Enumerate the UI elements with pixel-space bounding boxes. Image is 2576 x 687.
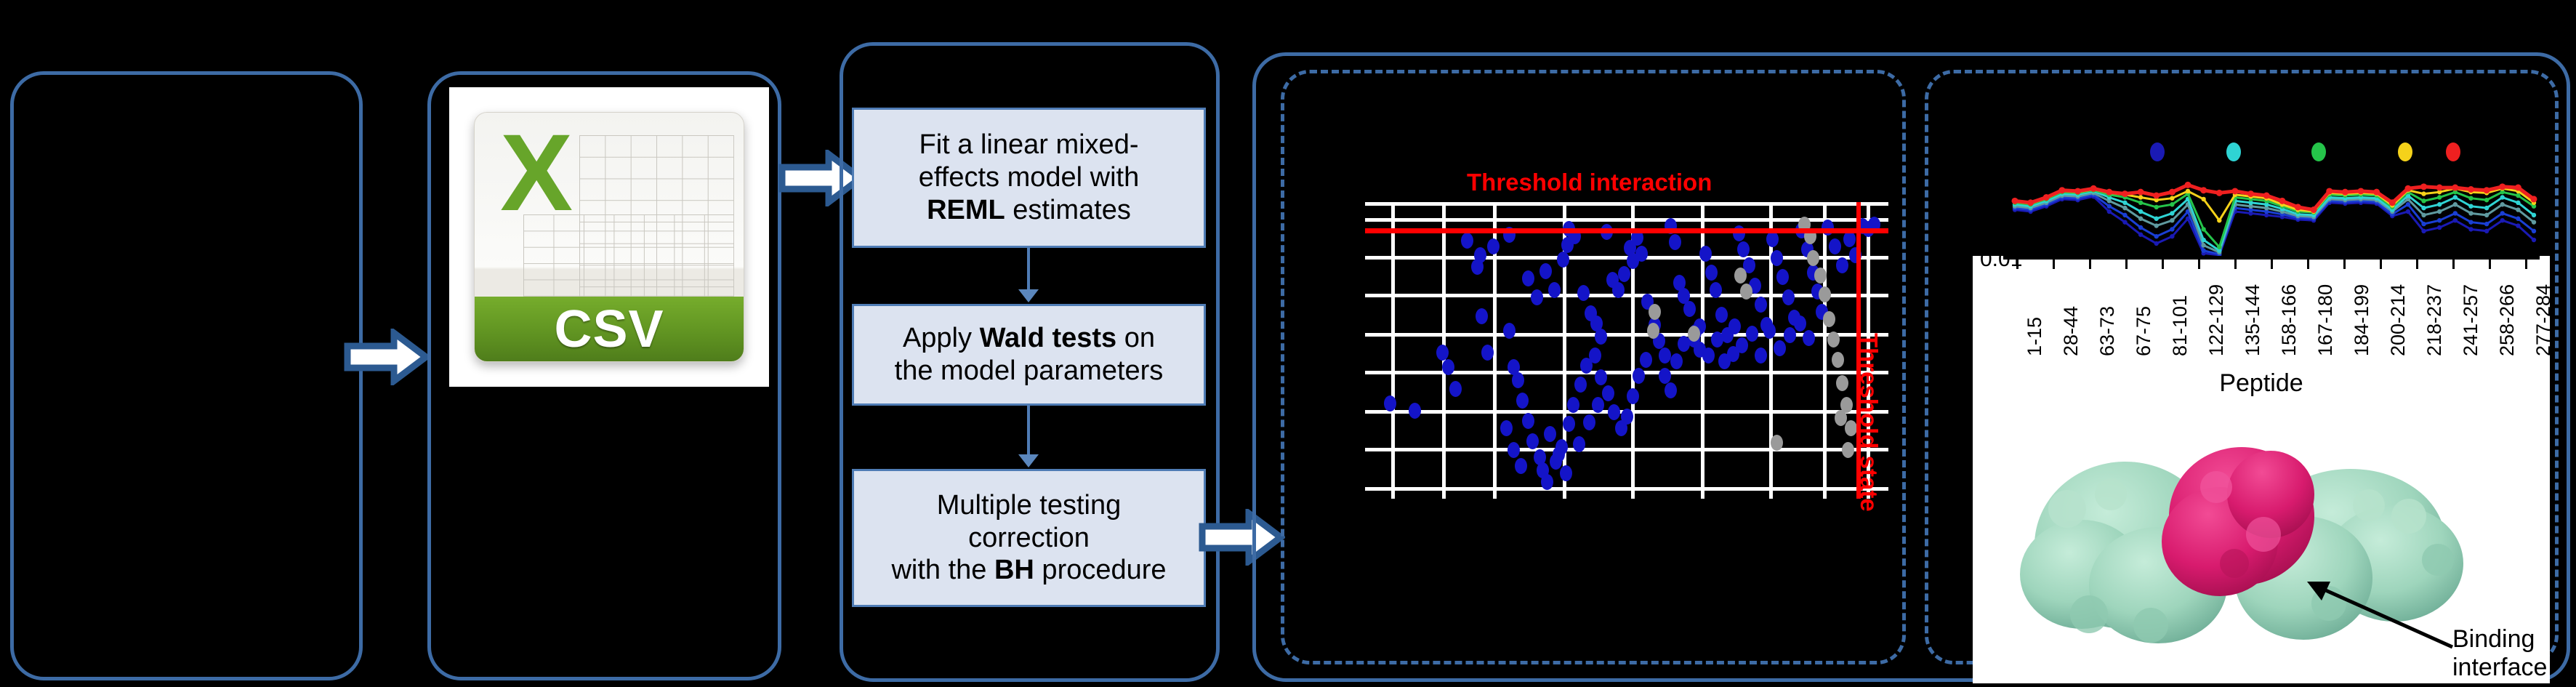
- gridline-h: [1365, 448, 1888, 451]
- x-axis-tick: [2380, 260, 2382, 269]
- csv-file-icon: X CSV: [474, 112, 744, 362]
- step-box-reml-text: Fit a linear mixed-effects model withREM…: [919, 129, 1139, 226]
- csv-band: CSV: [475, 297, 744, 361]
- x-axis-tick: [2452, 260, 2455, 269]
- x-axis-title: Peptide: [1973, 369, 2550, 398]
- x-axis-tick: [2343, 260, 2346, 269]
- binding-interface-line2: interface: [2452, 654, 2547, 682]
- excel-x-glyph: X: [491, 123, 582, 222]
- x-axis-tick: [2525, 260, 2527, 269]
- x-axis-tick-label: 200-214: [2387, 284, 2410, 356]
- x-axis-tick-label: 277-284: [2532, 284, 2550, 356]
- x-axis-tick-label: 81-101: [2169, 295, 2191, 356]
- empty-stage-panel: [10, 71, 363, 680]
- x-axis-tick: [2234, 260, 2237, 269]
- x-axis-tick: [2416, 260, 2418, 269]
- x-axis-tick: [2198, 260, 2200, 269]
- x-axis-tick-label: 258-266: [2496, 284, 2519, 356]
- connector-wald-to-bh: [1027, 406, 1030, 458]
- x-axis-tick: [2162, 260, 2164, 269]
- threshold-interaction-label: Threshold interaction: [1467, 169, 1712, 196]
- binding-interface-line1: Binding: [2452, 625, 2547, 654]
- x-axis-tick: [2271, 260, 2273, 269]
- peptide-line-chart: [1990, 142, 2550, 257]
- x-axis-tick-label: 158-166: [2278, 284, 2301, 356]
- step-box-wald[interactable]: Apply Wald tests onthe model parameters: [852, 304, 1206, 406]
- x-axis-tick: [2125, 260, 2128, 269]
- x-axis-tick: [2089, 260, 2091, 269]
- csv-file-card: X CSV: [449, 87, 769, 387]
- step-box-wald-text: Apply Wald tests onthe model parameters: [895, 322, 1164, 387]
- x-axis-tick-label: 167-180: [2314, 284, 2337, 356]
- x-axis-tick-label: 184-199: [2351, 284, 2373, 356]
- gridline-h: [1365, 487, 1888, 491]
- workflow-diagram: X CSV Fit a linear mixed-effects model w…: [0, 0, 2576, 687]
- scatter-plot-area: [1365, 202, 1888, 499]
- x-axis-tick-label: 63-73: [2096, 306, 2119, 356]
- x-axis-tick-label: 122-129: [2205, 284, 2228, 356]
- x-axis-tick: [2489, 260, 2491, 269]
- gridline-h: [1365, 202, 1888, 206]
- x-axis-tick-label: 67-75: [2133, 306, 2155, 356]
- gridline-h: [1365, 294, 1888, 297]
- peptide-chart-axis: 0.01 1-1528-4463-7367-7581-101122-129135…: [1973, 256, 2550, 409]
- gridline-v: [1823, 202, 1827, 499]
- x-axis-tick: [2053, 260, 2055, 269]
- x-axis-tick: [2307, 260, 2309, 269]
- step-box-reml[interactable]: Fit a linear mixed-effects model withREM…: [852, 108, 1206, 248]
- csv-band-label: CSV: [554, 300, 664, 359]
- step-box-bh-text: Multiple testingcorrectionwith the BH pr…: [891, 489, 1166, 587]
- gridline-v: [1391, 202, 1395, 499]
- connector-reml-to-wald: [1027, 248, 1030, 293]
- x-axis-tick-label: 28-44: [2060, 306, 2082, 356]
- x-axis-tick-label: 241-257: [2460, 284, 2482, 356]
- csv-grid-upper: [579, 135, 734, 297]
- arrow-stage1-to-stage2: [343, 329, 430, 385]
- peptide-chart-lines: [1990, 142, 2550, 257]
- x-axis-tick-label: 135-144: [2242, 284, 2264, 356]
- x-axis-tick-label: 218-237: [2423, 284, 2446, 356]
- x-axis-tick: [2016, 260, 2018, 269]
- connector-arrowhead-2: [1018, 454, 1039, 467]
- step-box-bh[interactable]: Multiple testingcorrectionwith the BH pr…: [852, 469, 1206, 607]
- volcano-scatter-plot: [1365, 202, 1888, 499]
- connector-arrowhead-1: [1018, 289, 1039, 302]
- threshold-interaction-line: [1365, 228, 1888, 233]
- binding-interface-annotation: Binding interface: [2452, 625, 2547, 682]
- protein-structure-image: Binding interface: [1973, 407, 2550, 683]
- threshold-state-label: Threshold state: [1855, 333, 1883, 512]
- x-axis-tick-label: 1-15: [2024, 317, 2046, 356]
